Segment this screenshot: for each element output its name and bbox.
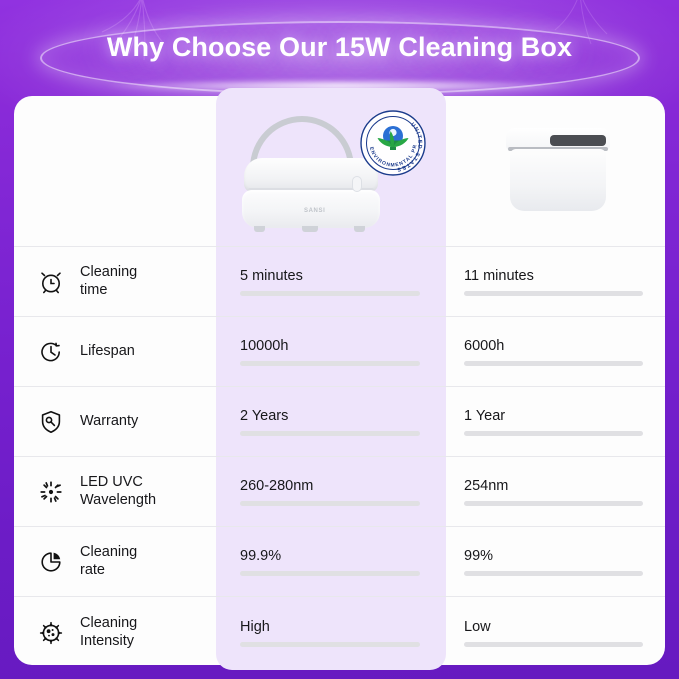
- comparison-row: Lifespan 10000h 6000h: [14, 316, 665, 386]
- clock-arrow-icon: [36, 337, 66, 367]
- rival-progress-track: [464, 571, 643, 576]
- our-progress-track: [240, 642, 420, 647]
- comparison-row: Cleaning Intensity High Low: [14, 596, 665, 668]
- row-label: LED UVC Wavelength: [80, 474, 156, 509]
- epa-seal-icon: UNITED STATES ENVIRONMENTAL PROTECTION A…: [359, 109, 427, 177]
- rival-value-cell: 99%: [446, 527, 665, 596]
- rival-body: [510, 149, 606, 211]
- shield-wrench-icon: [36, 407, 66, 437]
- our-progress-track: [240, 571, 420, 576]
- our-value-cell: 5 minutes: [216, 247, 446, 316]
- our-progress-track: [240, 291, 420, 296]
- rival-value-cell: Low: [446, 597, 665, 668]
- product-foot-left: [254, 226, 265, 232]
- rival-progress-track: [464, 501, 643, 506]
- header-spacer-cell: [14, 96, 216, 246]
- product-foot-middle: [302, 226, 318, 232]
- comparison-row: Cleaning rate 99.9% 99%: [14, 526, 665, 596]
- comparison-rows: Cleaning time 5 minutes 11 minutes: [14, 246, 665, 668]
- product-brand-mark: SANSI: [304, 208, 325, 214]
- rival-progress-track: [464, 291, 643, 296]
- rival-progress-track: [464, 361, 643, 366]
- rival-handle: [550, 135, 606, 146]
- rival-value-cell: 11 minutes: [446, 247, 665, 316]
- rival-value-cell: 1 Year: [446, 387, 665, 456]
- our-value-cell: 10000h: [216, 317, 446, 386]
- alarm-clock-icon: [36, 267, 66, 297]
- row-label-cell: Warranty: [14, 387, 216, 456]
- rival-value: 11 minutes: [464, 268, 643, 284]
- rival-product-image: [504, 128, 612, 214]
- our-progress-track: [240, 501, 420, 506]
- our-value: 260-280nm: [240, 478, 420, 494]
- comparison-row: LED UVC Wavelength 260-280nm 254nm: [14, 456, 665, 526]
- our-value: 5 minutes: [240, 268, 420, 284]
- comparison-row: Warranty 2 Years 1 Year: [14, 386, 665, 456]
- our-value-cell: 99.9%: [216, 527, 446, 596]
- product-power-button: [352, 176, 362, 192]
- uv-sun-icon: [36, 477, 66, 507]
- row-label-cell: Cleaning time: [14, 247, 216, 316]
- comparison-row: Cleaning time 5 minutes 11 minutes: [14, 246, 665, 316]
- headline-glow-streak: [105, 79, 575, 93]
- row-label-cell: Lifespan: [14, 317, 216, 386]
- row-label-cell: Cleaning rate: [14, 527, 216, 596]
- our-value: 10000h: [240, 338, 420, 354]
- row-label: Warranty: [80, 413, 138, 431]
- rival-value-cell: 254nm: [446, 457, 665, 526]
- rival-value: 1 Year: [464, 408, 643, 424]
- rival-value-cell: 6000h: [446, 317, 665, 386]
- page-title: Why Choose Our 15W Cleaning Box: [0, 32, 679, 63]
- pie-chart-icon: [36, 547, 66, 577]
- row-label: Cleaning Intensity: [80, 615, 137, 650]
- rival-progress-track: [464, 642, 643, 647]
- rival-value: Low: [464, 619, 643, 635]
- row-label: Cleaning rate: [80, 544, 137, 579]
- virus-icon: [36, 618, 66, 648]
- row-label-cell: LED UVC Wavelength: [14, 457, 216, 526]
- row-label: Cleaning time: [80, 264, 137, 299]
- our-value: 2 Years: [240, 408, 420, 424]
- rival-progress-track: [464, 431, 643, 436]
- rival-value: 6000h: [464, 338, 643, 354]
- our-value-cell: High: [216, 597, 446, 668]
- our-progress-track: [240, 431, 420, 436]
- our-value: High: [240, 619, 420, 635]
- infographic-stage: Why Choose Our 15W Cleaning Box SANSI: [0, 0, 679, 679]
- our-progress-track: [240, 361, 420, 366]
- rival-value: 254nm: [464, 478, 643, 494]
- rival-product-cell: [446, 96, 665, 246]
- our-value: 99.9%: [240, 548, 420, 564]
- rival-value: 99%: [464, 548, 643, 564]
- our-value-cell: 260-280nm: [216, 457, 446, 526]
- product-foot-right: [354, 226, 365, 232]
- row-label: Lifespan: [80, 343, 135, 361]
- product-header-row: SANSI UNITED STATES: [14, 96, 665, 246]
- row-label-cell: Cleaning Intensity: [14, 597, 216, 668]
- featured-product-cell: SANSI UNITED STATES: [216, 96, 446, 246]
- our-value-cell: 2 Years: [216, 387, 446, 456]
